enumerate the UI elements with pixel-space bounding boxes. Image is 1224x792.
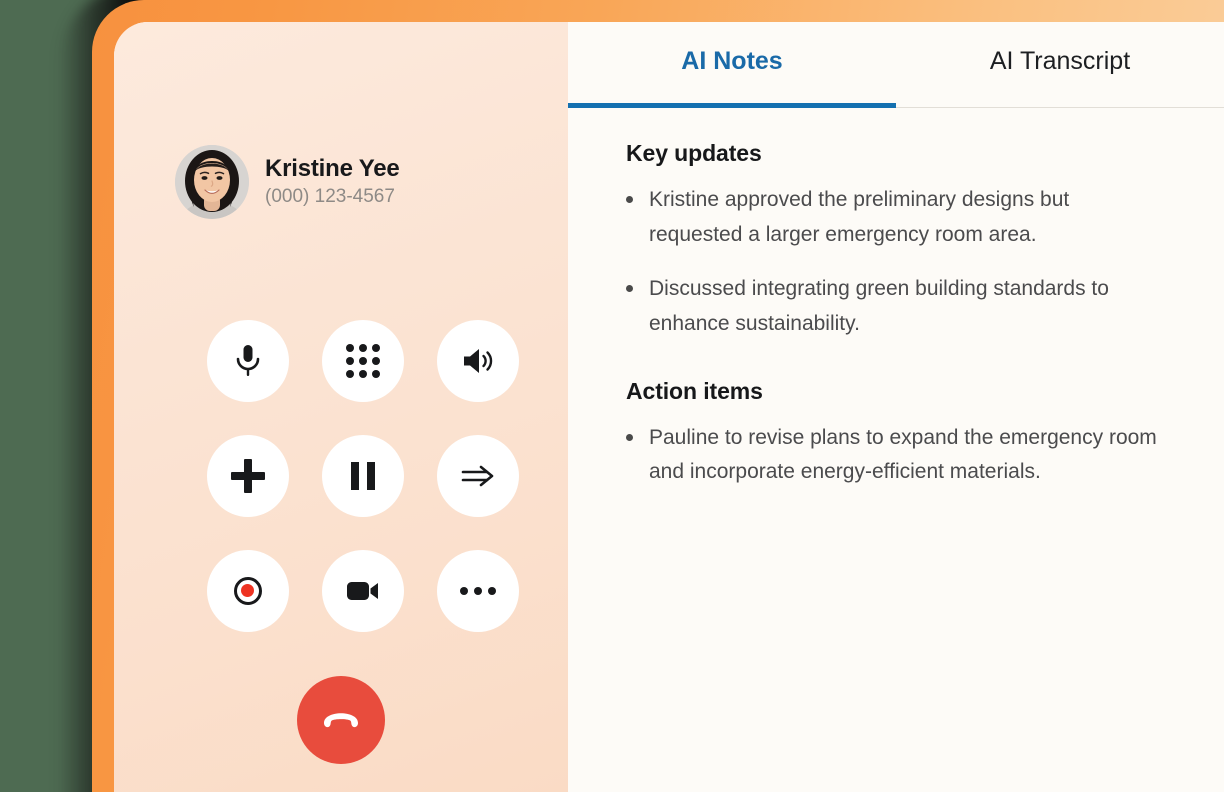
list-item-text: Discussed integrating green building sta… [649,272,1166,341]
action-items-list: Pauline to revise plans to expand the em… [626,421,1168,490]
pause-icon [351,462,375,490]
list-item-text: Kristine approved the preliminary design… [649,183,1166,252]
mute-button[interactable] [207,320,289,402]
hold-button[interactable] [322,435,404,517]
avatar [175,145,249,219]
tab-ai-transcript[interactable]: AI Transcript [896,22,1224,108]
record-icon [234,577,262,605]
list-item: Kristine approved the preliminary design… [626,183,1166,252]
end-call-area [114,676,568,764]
transfer-arrow-icon [461,463,495,489]
more-dots-icon [460,587,496,595]
key-updates-list: Kristine approved the preliminary design… [626,183,1168,342]
plus-icon [231,459,265,493]
bullet-dot-icon [626,434,633,441]
add-call-button[interactable] [207,435,289,517]
dialpad-icon [346,344,380,378]
more-button[interactable] [437,550,519,632]
list-item: Discussed integrating green building sta… [626,272,1166,341]
video-camera-icon [346,579,380,603]
ai-panel: AI Notes AI Transcript Key updates Krist… [568,22,1224,792]
record-button[interactable] [207,550,289,632]
section-action-items: Action items Pauline to revise plans to … [626,378,1168,490]
tab-ai-notes[interactable]: AI Notes [568,22,896,108]
section-key-updates: Key updates Kristine approved the prelim… [626,140,1168,342]
microphone-icon [233,344,263,378]
bullet-dot-icon [626,285,633,292]
speaker-icon [461,346,495,376]
section-title: Key updates [626,140,1168,167]
speaker-button[interactable] [437,320,519,402]
list-item-text: Pauline to revise plans to expand the em… [649,421,1166,490]
phone-hangup-icon [320,706,362,735]
keypad-button[interactable] [322,320,404,402]
end-call-button[interactable] [297,676,385,764]
caller-name: Kristine Yee [265,155,400,184]
ai-panel-tabs: AI Notes AI Transcript [568,22,1224,108]
section-title: Action items [626,378,1168,405]
ai-notes-content: Key updates Kristine approved the prelim… [568,108,1224,490]
phone-screen: Kristine Yee (000) 123-4567 [114,22,1224,792]
caller-phone-number: (000) 123-4567 [265,185,400,209]
bullet-dot-icon [626,196,633,203]
list-item: Pauline to revise plans to expand the em… [626,421,1166,490]
call-controls-grid [190,303,535,648]
caller-info: Kristine Yee (000) 123-4567 [175,145,400,219]
video-button[interactable] [322,550,404,632]
transfer-button[interactable] [437,435,519,517]
call-panel: Kristine Yee (000) 123-4567 [114,22,568,792]
